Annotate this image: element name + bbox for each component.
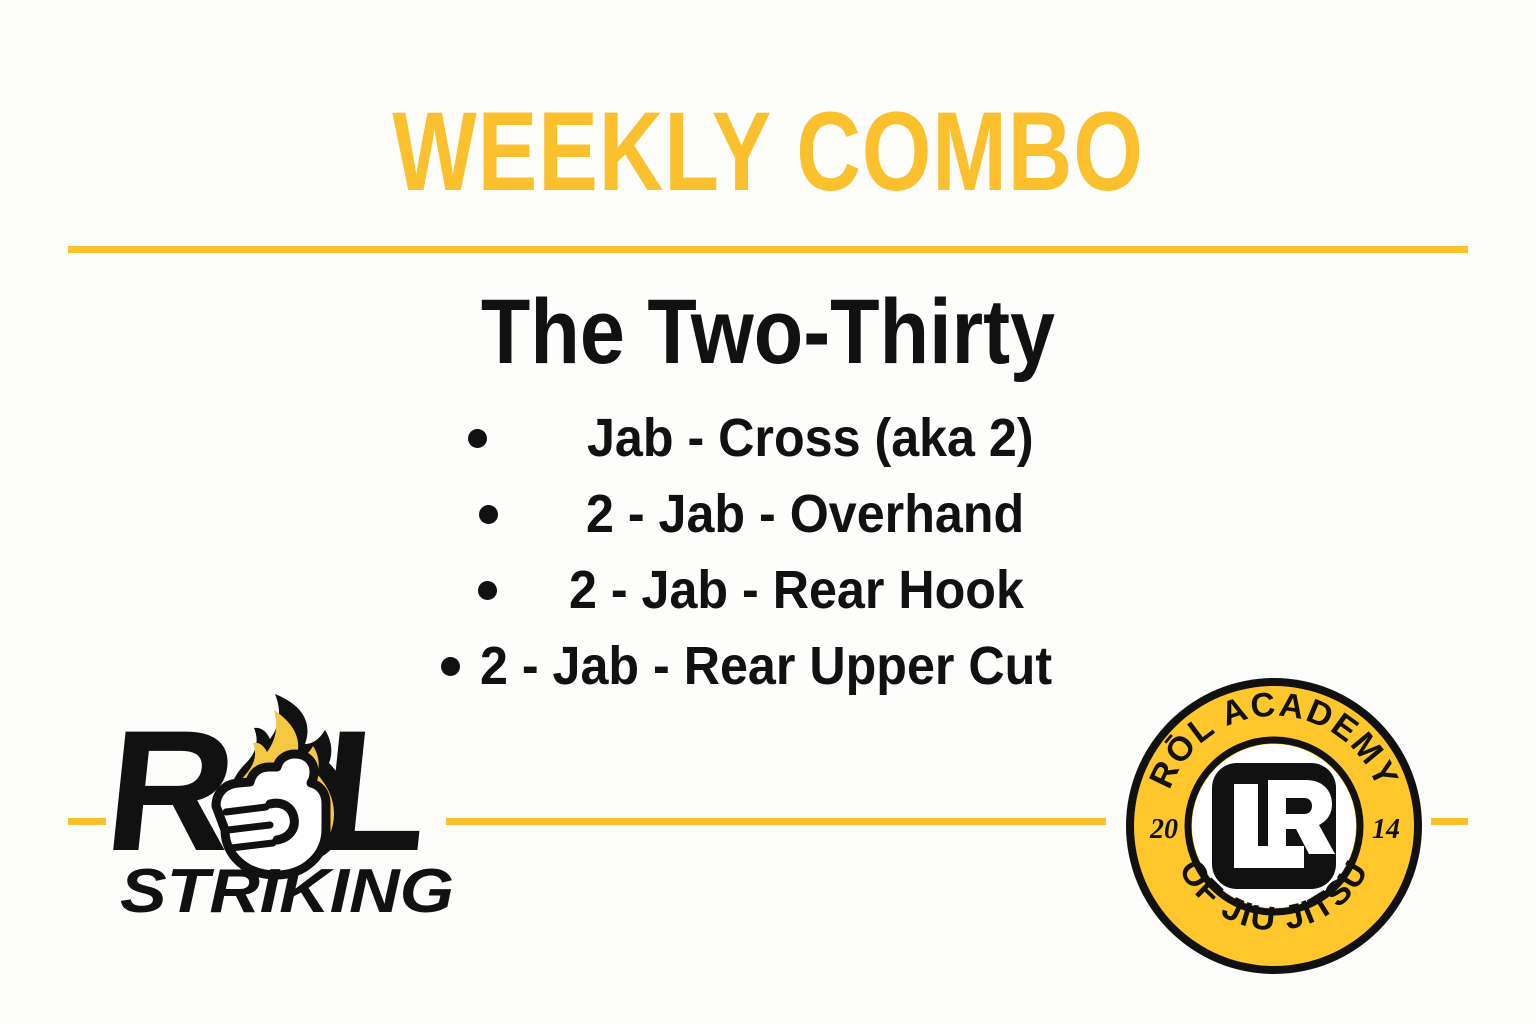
bullet-icon [478, 581, 497, 600]
rol-academy-seal: RŌL ACADEMY OF JIU JITSU 20 14 [1124, 676, 1424, 976]
bullet-icon [468, 429, 487, 448]
list-item: 2 - Jab - Rear Hook [0, 552, 1536, 628]
combo-step-text: 2 - Jab - Rear Upper Cut [480, 635, 1052, 697]
combo-step-text: 2 - Jab - Rear Hook [569, 559, 1024, 621]
striking-subtitle: STRIKING [120, 857, 454, 922]
seal-year-right: 14 [1372, 814, 1400, 845]
weekly-combo-card: WEEKLY COMBO The Two-Thirty Jab - Cross … [0, 0, 1536, 1024]
combo-name: The Two-Thirty [92, 286, 1444, 378]
seal-year-left: 20 [1149, 814, 1178, 845]
list-item: 2 - Jab - Overhand [0, 476, 1536, 552]
seal-monogram [1212, 763, 1336, 889]
combo-step-text: Jab - Cross (aka 2) [587, 407, 1034, 469]
combo-list: Jab - Cross (aka 2) 2 - Jab - Overhand 2… [0, 400, 1536, 704]
divider-bottom-middle [446, 818, 1106, 825]
combo-step-text: 2 - Jab - Overhand [586, 483, 1024, 545]
rol-striking-logo: R L STRIKI [112, 672, 462, 922]
divider-top [68, 246, 1468, 253]
page-title: WEEKLY COMBO [154, 96, 1383, 208]
list-item: Jab - Cross (aka 2) [0, 400, 1536, 476]
divider-bottom-right [1431, 818, 1468, 825]
title-block: WEEKLY COMBO [0, 96, 1536, 208]
bullet-icon [479, 505, 498, 524]
divider-bottom-left [68, 818, 106, 825]
